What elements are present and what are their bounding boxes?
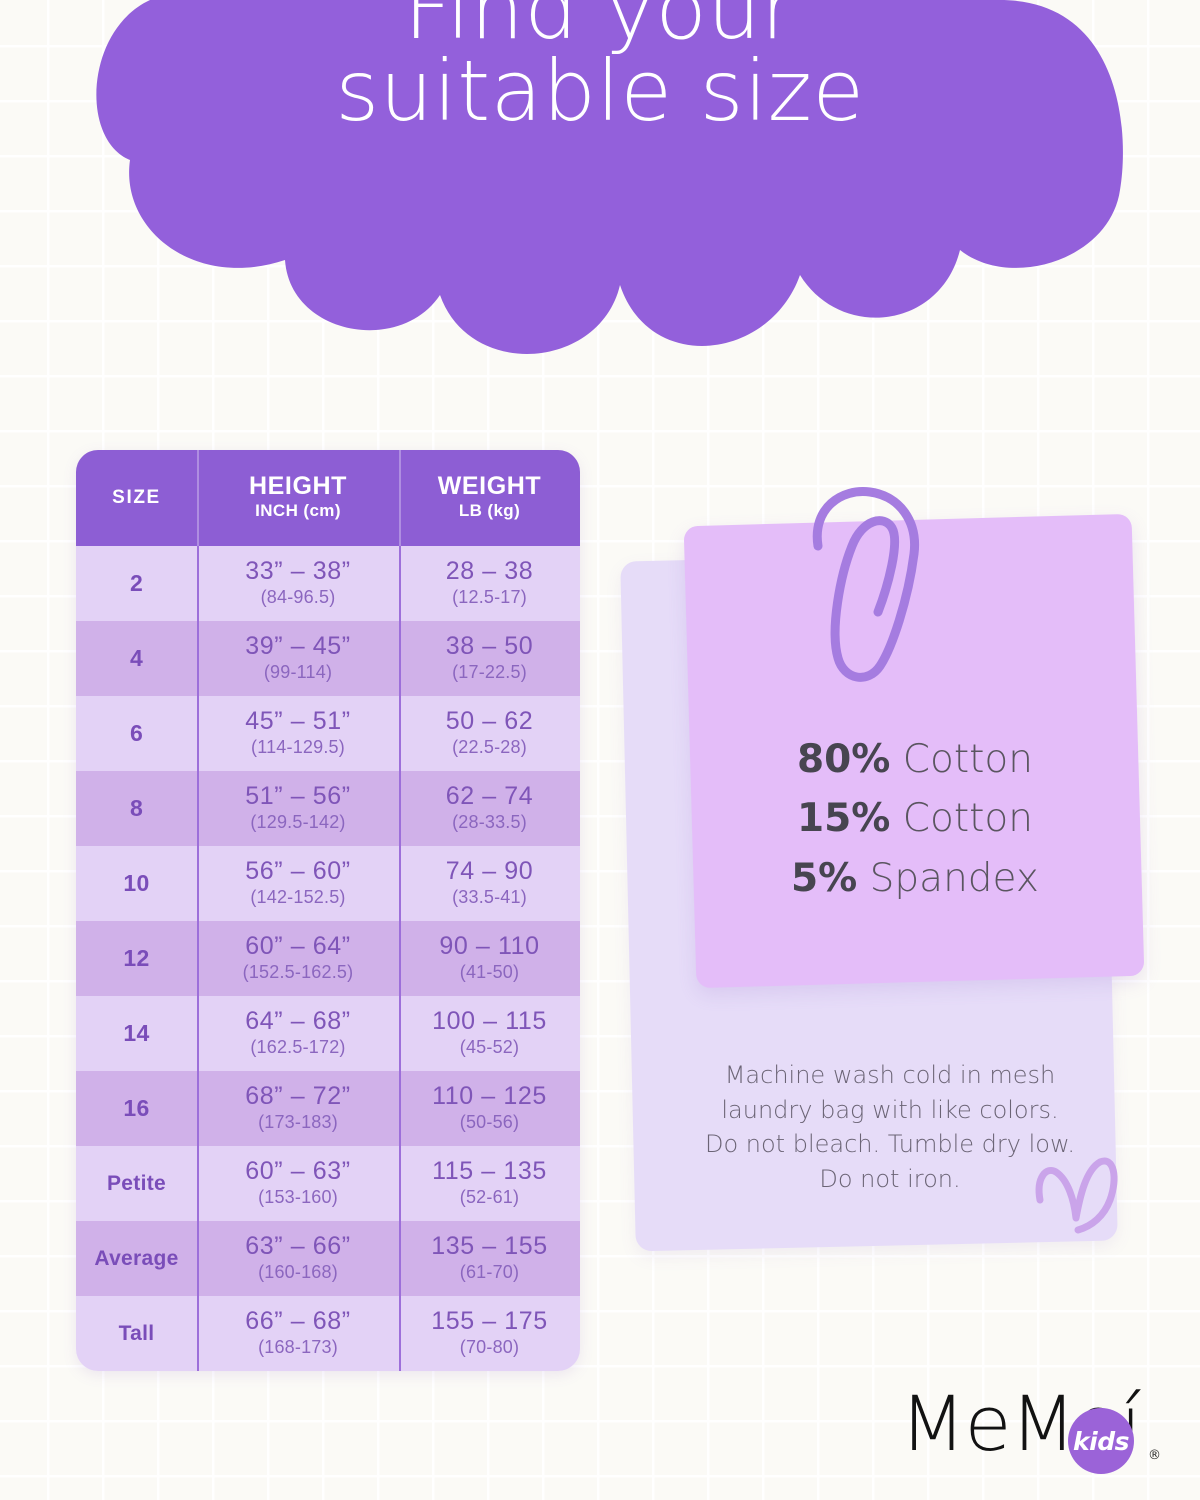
composition-material: Cotton — [890, 796, 1033, 841]
kids-badge: kids — [1068, 1408, 1134, 1474]
composition-percent: 80% — [797, 737, 890, 782]
cell-weight: 115 – 135(52-61) — [399, 1146, 580, 1221]
cell-height: 45” – 51”(114-129.5) — [197, 696, 399, 771]
cell-weight: 90 – 110(41-50) — [399, 921, 580, 996]
cell-size: Petite — [76, 1146, 197, 1221]
weight-lb: 38 – 50 — [446, 632, 534, 660]
weight-lb: 28 – 38 — [446, 557, 534, 585]
table-row: 645” – 51”(114-129.5)50 – 62(22.5-28) — [76, 696, 580, 771]
composition-material: Cotton — [890, 737, 1033, 782]
weight-kg: (61-70) — [460, 1261, 519, 1284]
weight-kg: (33.5-41) — [452, 886, 527, 909]
weight-kg: (28-33.5) — [452, 811, 527, 834]
cell-size: 2 — [76, 546, 197, 621]
height-cm: (99-114) — [264, 661, 332, 684]
table-row: 1056” – 60”(142-152.5)74 – 90(33.5-41) — [76, 846, 580, 921]
table-row: Tall66” – 68”(168-173)155 – 175(70-80) — [76, 1296, 580, 1371]
heart-icon — [1030, 1148, 1125, 1243]
size-label: 8 — [130, 795, 143, 822]
column-header-size: SIZE — [76, 450, 197, 546]
size-label: 10 — [123, 870, 149, 897]
table-row: 233” – 38”(84-96.5)28 – 38(12.5-17) — [76, 546, 580, 621]
cell-height: 56” – 60”(142-152.5) — [197, 846, 399, 921]
composition-line: 80% Cotton — [700, 730, 1130, 789]
size-label: 14 — [123, 1020, 149, 1047]
weight-kg: (17-22.5) — [452, 661, 527, 684]
kids-badge-label: kids — [1073, 1427, 1129, 1456]
care-line: Machine wash cold in mesh — [670, 1058, 1110, 1093]
care-line: laundry bag with like colors. — [670, 1093, 1110, 1128]
cell-height: 51” – 56”(129.5-142) — [197, 771, 399, 846]
table-header-row: SIZE HEIGHT INCH (cm) WEIGHT LB (kg) — [76, 450, 580, 546]
cell-size: Tall — [76, 1296, 197, 1371]
cell-size: 4 — [76, 621, 197, 696]
composition-percent: 15% — [797, 796, 890, 841]
size-label: 4 — [130, 645, 143, 672]
composition-list: 80% Cotton15% Cotton5% Spandex — [700, 730, 1130, 908]
size-label: Average — [94, 1247, 178, 1271]
height-inches: 45” – 51” — [245, 707, 350, 735]
cell-weight: 74 – 90(33.5-41) — [399, 846, 580, 921]
cell-height: 64” – 68”(162.5-172) — [197, 996, 399, 1071]
height-inches: 51” – 56” — [245, 782, 350, 810]
composition-line: 15% Cotton — [700, 789, 1130, 848]
weight-lb: 90 – 110 — [439, 932, 539, 960]
height-inches: 39” – 45” — [245, 632, 350, 660]
weight-kg: (41-50) — [460, 961, 519, 984]
composition-material: Spandex — [857, 856, 1039, 901]
height-cm: (153-160) — [258, 1186, 338, 1209]
table-row: 1464” – 68”(162.5-172)100 – 115(45-52) — [76, 996, 580, 1071]
weight-lb: 110 – 125 — [432, 1082, 547, 1110]
size-label: 16 — [123, 1095, 149, 1122]
cell-height: 66” – 68”(168-173) — [197, 1296, 399, 1371]
page-title-line1: Find your — [404, 0, 796, 58]
table-row: Petite60” – 63”(153-160)115 – 135(52-61) — [76, 1146, 580, 1221]
height-cm: (173-183) — [258, 1111, 338, 1134]
height-inches: 66” – 68” — [245, 1307, 350, 1335]
weight-kg: (45-52) — [460, 1036, 519, 1059]
weight-lb: 155 – 175 — [431, 1307, 548, 1335]
cell-size: 6 — [76, 696, 197, 771]
height-cm: (152.5-162.5) — [243, 961, 354, 984]
height-cm: (160-168) — [258, 1261, 338, 1284]
cloud-shape — [0, 0, 1200, 410]
weight-kg: (70-80) — [460, 1336, 519, 1359]
cell-weight: 135 – 155(61-70) — [399, 1221, 580, 1296]
brand-logo: MeMoí kids ® — [900, 1386, 1170, 1486]
table-row: 1668” – 72”(173-183)110 – 125(50-56) — [76, 1071, 580, 1146]
weight-lb: 50 – 62 — [446, 707, 534, 735]
cell-weight: 38 – 50(17-22.5) — [399, 621, 580, 696]
page-title-line2: suitable size — [0, 50, 1200, 132]
table-row: 439” – 45”(99-114)38 – 50(17-22.5) — [76, 621, 580, 696]
height-cm: (168-173) — [258, 1336, 338, 1359]
size-label: Tall — [119, 1322, 155, 1346]
cell-height: 39” – 45”(99-114) — [197, 621, 399, 696]
size-label: 12 — [123, 945, 149, 972]
column-header-weight: WEIGHT LB (kg) — [399, 450, 580, 546]
weight-lb: 62 – 74 — [446, 782, 534, 810]
height-inches: 68” – 72” — [245, 1082, 350, 1110]
registered-trademark-icon: ® — [1148, 1448, 1161, 1463]
weight-lb: 100 – 115 — [432, 1007, 547, 1035]
height-cm: (142-152.5) — [250, 886, 345, 909]
weight-kg: (22.5-28) — [452, 736, 527, 759]
weight-lb: 115 – 135 — [432, 1157, 547, 1185]
cell-weight: 28 – 38(12.5-17) — [399, 546, 580, 621]
cell-height: 33” – 38”(84-96.5) — [197, 546, 399, 621]
header-cloud: Find your suitable size — [0, 0, 1200, 410]
weight-lb: 135 – 155 — [431, 1232, 548, 1260]
height-cm: (84-96.5) — [261, 586, 336, 609]
paperclip-icon — [800, 480, 940, 690]
height-inches: 63” – 66” — [245, 1232, 350, 1260]
table-row: 1260” – 64”(152.5-162.5)90 – 110(41-50) — [76, 921, 580, 996]
cell-size: 8 — [76, 771, 197, 846]
weight-lb: 74 – 90 — [446, 857, 534, 885]
composition-percent: 5% — [791, 856, 857, 901]
cell-size: 12 — [76, 921, 197, 996]
weight-kg: (12.5-17) — [452, 586, 527, 609]
cell-size: 10 — [76, 846, 197, 921]
cell-height: 60” – 64”(152.5-162.5) — [197, 921, 399, 996]
height-inches: 33” – 38” — [245, 557, 350, 585]
height-cm: (129.5-142) — [250, 811, 345, 834]
composition-line: 5% Spandex — [700, 849, 1130, 908]
cell-size: 14 — [76, 996, 197, 1071]
note-cards: 80% Cotton15% Cotton5% Spandex Machine w… — [618, 498, 1138, 1258]
cell-weight: 155 – 175(70-80) — [399, 1296, 580, 1371]
column-header-height: HEIGHT INCH (cm) — [197, 450, 399, 546]
cell-weight: 50 – 62(22.5-28) — [399, 696, 580, 771]
cell-height: 63” – 66”(160-168) — [197, 1221, 399, 1296]
cell-height: 68” – 72”(173-183) — [197, 1071, 399, 1146]
page-title: Find your suitable size — [0, 0, 1200, 133]
height-inches: 64” – 68” — [245, 1007, 350, 1035]
table-row: Average63” – 66”(160-168)135 – 155(61-70… — [76, 1221, 580, 1296]
height-cm: (114-129.5) — [251, 736, 345, 759]
table-row: 851” – 56”(129.5-142)62 – 74(28-33.5) — [76, 771, 580, 846]
weight-kg: (52-61) — [460, 1186, 519, 1209]
cell-weight: 62 – 74(28-33.5) — [399, 771, 580, 846]
weight-kg: (50-56) — [460, 1111, 519, 1134]
table-body: 233” – 38”(84-96.5)28 – 38(12.5-17)439” … — [76, 546, 580, 1371]
height-cm: (162.5-172) — [250, 1036, 345, 1059]
size-label: Petite — [107, 1172, 166, 1196]
cell-weight: 100 – 115(45-52) — [399, 996, 580, 1071]
height-inches: 60” – 64” — [245, 932, 350, 960]
size-chart-table: SIZE HEIGHT INCH (cm) WEIGHT LB (kg) 233… — [76, 450, 580, 1371]
height-inches: 60” – 63” — [245, 1157, 350, 1185]
cell-size: 16 — [76, 1071, 197, 1146]
cell-size: Average — [76, 1221, 197, 1296]
cell-weight: 110 – 125(50-56) — [399, 1071, 580, 1146]
height-inches: 56” – 60” — [245, 857, 350, 885]
size-label: 6 — [130, 720, 143, 747]
cell-height: 60” – 63”(153-160) — [197, 1146, 399, 1221]
size-label: 2 — [130, 570, 143, 597]
